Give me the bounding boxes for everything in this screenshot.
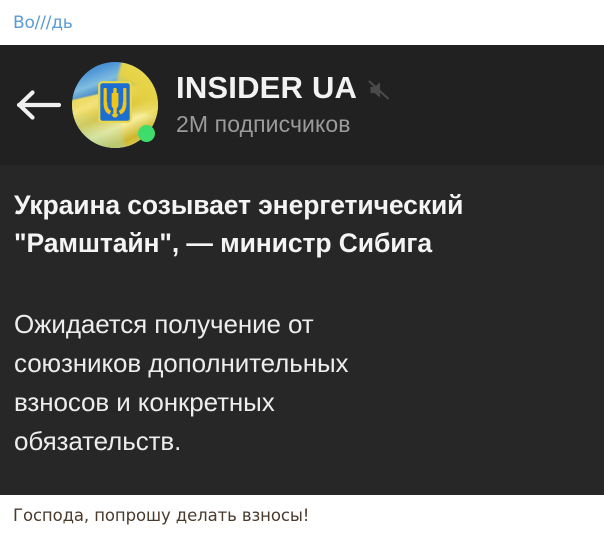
avatar[interactable] — [72, 62, 158, 148]
channel-meta: INSIDER UA 2M подписчиков — [176, 72, 392, 138]
post-body: Украина созывает энергетический "Рамштай… — [0, 165, 604, 461]
channel-subscribers: 2M подписчиков — [176, 111, 392, 138]
post-text: Ожидается получение от союзников дополни… — [14, 305, 590, 461]
back-button[interactable] — [8, 88, 70, 122]
telegram-post-panel: INSIDER UA 2M подписчиков Украина созыва… — [0, 45, 604, 495]
channel-header: INSIDER UA 2M подписчиков — [0, 45, 604, 165]
source-handle: Во///дь — [13, 13, 73, 33]
muted-speaker-icon[interactable] — [366, 74, 392, 102]
top-bar: Во///дь — [0, 0, 604, 45]
back-arrow-icon — [16, 88, 62, 122]
channel-title: INSIDER UA — [176, 72, 357, 105]
post-headline: Украина созывает энергетический "Рамштай… — [14, 187, 590, 263]
caption-bar: Господа, попрошу делать взносы! — [0, 495, 604, 536]
online-status-dot — [138, 125, 155, 142]
channel-title-row: INSIDER UA — [176, 72, 392, 105]
caption-text: Господа, попрошу делать взносы! — [13, 506, 309, 525]
trident-icon — [98, 81, 132, 123]
